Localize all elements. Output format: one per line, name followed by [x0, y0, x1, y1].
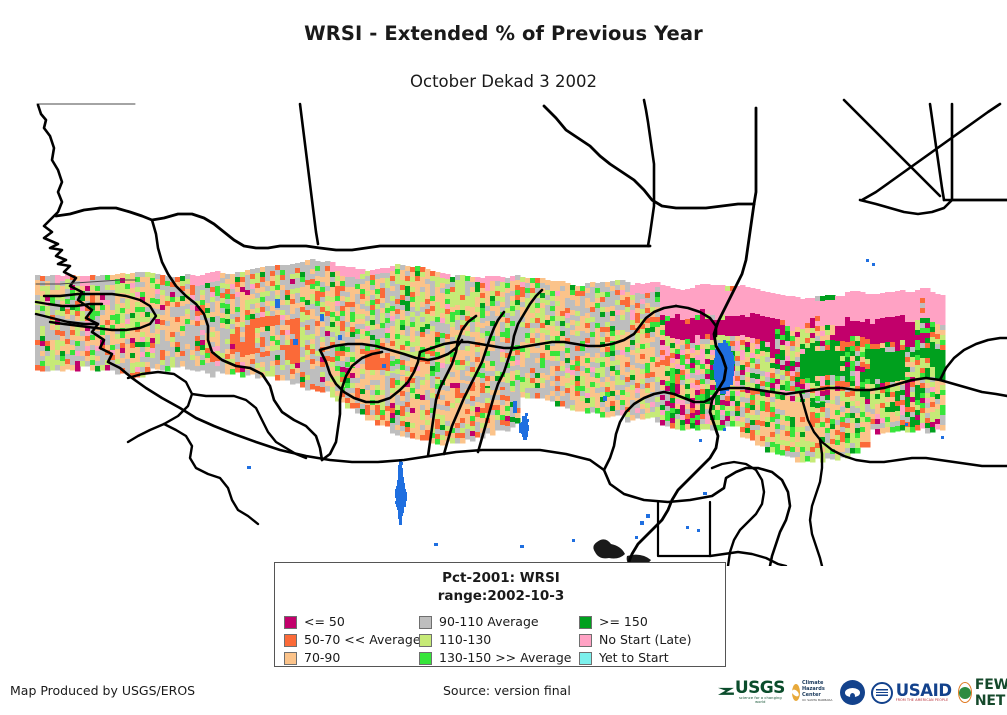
legend-label: 110-130: [439, 633, 491, 647]
legend-columns: <= 5050-70 << Average70-90 90-110 Averag…: [284, 614, 720, 666]
legend-label: 50-70 << Average: [304, 633, 421, 647]
legend-swatch: [579, 616, 592, 629]
legend-swatch: [284, 616, 297, 629]
usaid-logo: USAID FROM THE AMERICAN PEOPLE: [871, 682, 952, 704]
legend-row: No Start (Late): [579, 632, 720, 648]
usaid-tagline: FROM THE AMERICAN PEOPLE: [896, 698, 952, 702]
legend-row: 90-110 Average: [419, 614, 579, 630]
noaa-logo: [840, 680, 865, 705]
legend-box: Pct-2001: WRSI range:2002-10-3 <= 5050-7…: [274, 562, 726, 667]
globe-icon: [958, 682, 972, 703]
fews-net-logo: FEWS NET: [958, 677, 1007, 709]
usgs-logo: USGS science for a changing world: [718, 681, 786, 704]
usgs-wordmark: USGS: [735, 681, 786, 696]
map-page: WRSI - Extended % of Previous Year Octob…: [0, 0, 1007, 715]
legend-title: Pct-2001: WRSI range:2002-10-3: [275, 569, 727, 605]
legend-title-line-1: Pct-2001: WRSI: [275, 569, 727, 587]
page-subtitle: October Dekad 3 2002: [0, 72, 1007, 91]
usaid-wordmark: USAID: [896, 684, 952, 698]
usgs-tagline: science for a changing world: [735, 696, 786, 704]
legend-label: Yet to Start: [599, 651, 669, 665]
chc-tagline: UC SANTA BARBARA: [802, 698, 834, 704]
legend-swatch: [284, 634, 297, 647]
map-credit: Map Produced by USGS/EROS: [10, 683, 195, 698]
legend-swatch: [579, 652, 592, 665]
map-source: Source: version final: [443, 683, 571, 698]
legend-swatch: [419, 616, 432, 629]
map-canvas[interactable]: [0, 96, 1007, 566]
legend-label: >= 150: [599, 615, 648, 629]
usaid-seal-icon: [871, 682, 893, 704]
page-title: WRSI - Extended % of Previous Year: [0, 22, 1007, 45]
legend-column-2: 90-110 Average110-130130-150 >> Average: [419, 614, 579, 666]
usgs-wave-icon: [718, 686, 734, 700]
legend-swatch: [284, 652, 297, 665]
fews-net-wordmark: FEWS NET: [975, 677, 1007, 709]
legend-label: 70-90: [304, 651, 340, 665]
climate-hazards-center-logo: Climate Hazards Center UC SANTA BARBARA: [792, 681, 834, 703]
legend-swatch: [579, 634, 592, 647]
wrsi-raster-map[interactable]: [0, 96, 1007, 566]
legend-column-1: <= 5050-70 << Average70-90: [284, 614, 419, 666]
legend-swatch: [419, 634, 432, 647]
legend-row: 130-150 >> Average: [419, 650, 579, 666]
legend-label: <= 50: [304, 615, 345, 629]
legend-row: >= 150: [579, 614, 720, 630]
legend-title-line-2: range:2002-10-3: [275, 587, 727, 605]
legend-swatch: [419, 652, 432, 665]
water-drop-icon: [792, 684, 800, 701]
legend-row: <= 50: [284, 614, 419, 630]
legend-row: 50-70 << Average: [284, 632, 419, 648]
legend-label: 130-150 >> Average: [439, 651, 571, 665]
legend-label: No Start (Late): [599, 633, 691, 647]
partner-logos: USGS science for a changing world Climat…: [718, 676, 1007, 709]
legend-row: 110-130: [419, 632, 579, 648]
legend-label: 90-110 Average: [439, 615, 539, 629]
chc-wordmark: Climate Hazards Center: [802, 681, 834, 698]
legend-row: Yet to Start: [579, 650, 720, 666]
noaa-seal-icon: [840, 680, 865, 705]
legend-row: 70-90: [284, 650, 419, 666]
legend-column-3: >= 150No Start (Late)Yet to Start: [579, 614, 720, 666]
